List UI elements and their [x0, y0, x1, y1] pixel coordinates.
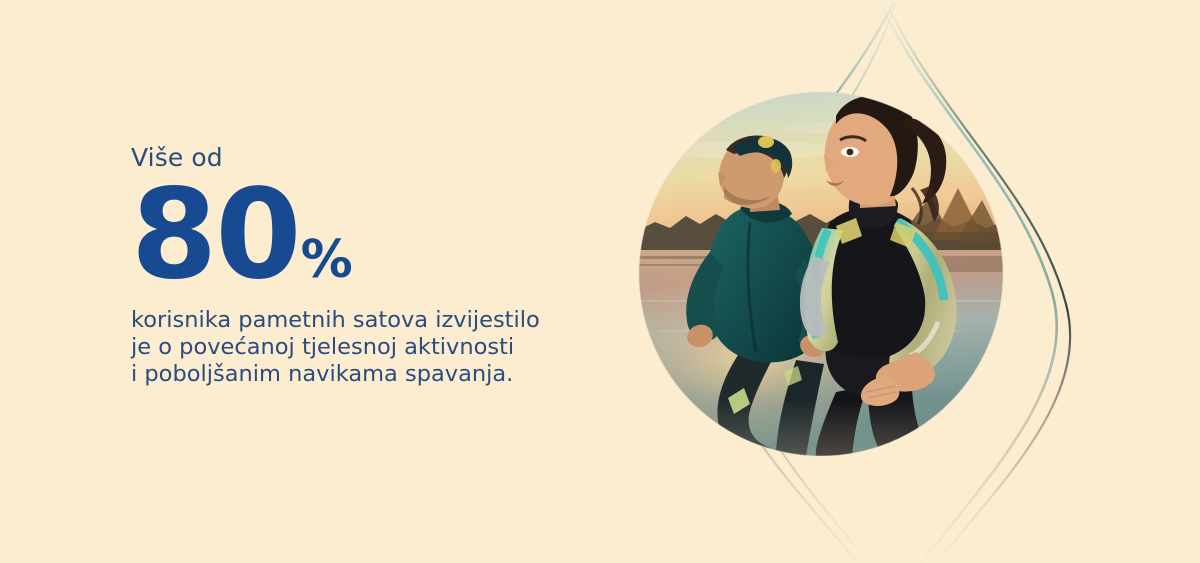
- stat-description: korisnika pametnih satova izvijestilo je…: [131, 307, 601, 388]
- runners-graphic: [600, 0, 1200, 563]
- stat-banner: Više od 80 % korisnika pametnih satova i…: [0, 0, 1200, 563]
- stat-unit: %: [301, 234, 352, 286]
- stat-text-block: Više od 80 % korisnika pametnih satova i…: [131, 143, 601, 388]
- leaf-frame-svg: [600, 0, 1200, 563]
- stat-number: 80: [131, 181, 300, 289]
- runners-photo: [639, 92, 1003, 458]
- stat-headline: 80 %: [131, 181, 601, 285]
- photo-bottom-fade: [639, 400, 1003, 458]
